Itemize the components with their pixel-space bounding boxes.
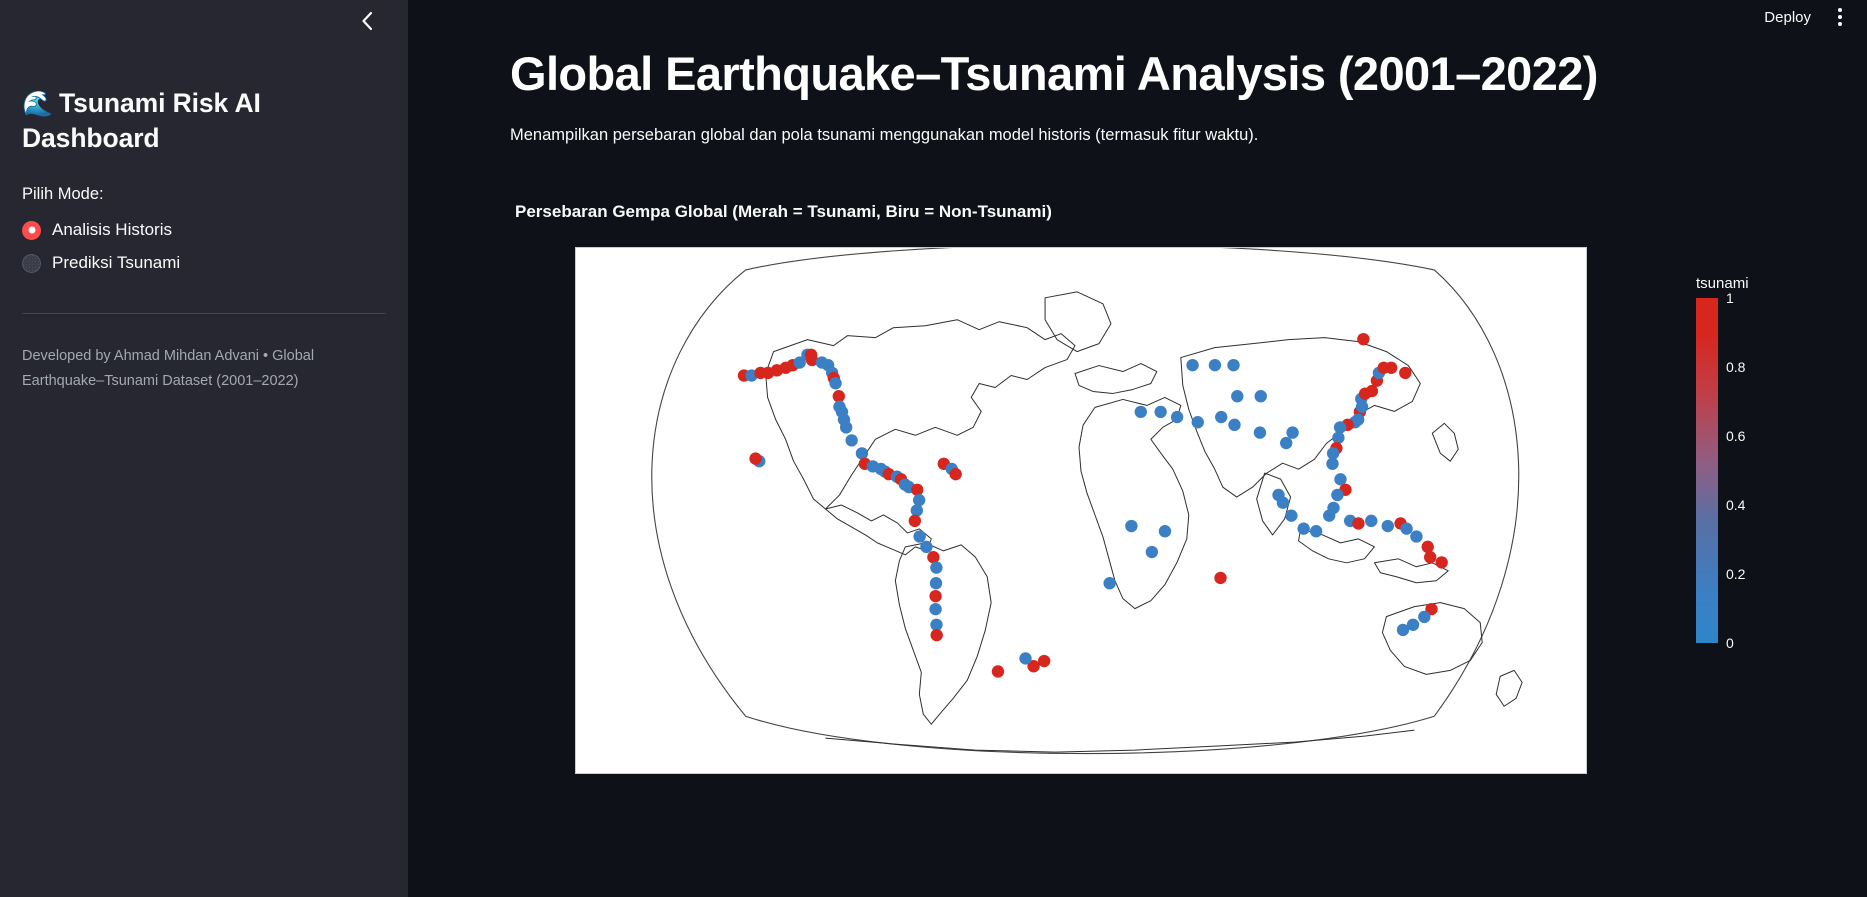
earthquake-point[interactable] bbox=[1255, 390, 1267, 402]
earthquake-point[interactable] bbox=[920, 540, 932, 552]
world-map-svg[interactable] bbox=[576, 248, 1586, 773]
colorbar-body: 1 0.8 0.6 0.4 0.2 0 bbox=[1690, 298, 1820, 643]
top-toolbar: Deploy bbox=[1754, 0, 1867, 34]
earthquake-point[interactable] bbox=[840, 421, 852, 433]
earthquake-point[interactable] bbox=[913, 530, 925, 542]
radio-option-analisis-historis[interactable]: Analisis Historis bbox=[22, 214, 386, 247]
earthquake-point[interactable] bbox=[1186, 359, 1198, 371]
page-subtitle: Menampilkan persebaran global dan pola t… bbox=[510, 126, 1867, 145]
earthquake-point[interactable] bbox=[1323, 509, 1335, 521]
earthquake-point[interactable] bbox=[1326, 457, 1338, 469]
earthquake-point[interactable] bbox=[1228, 418, 1240, 430]
colorbar-tick-0: 0 bbox=[1726, 635, 1734, 651]
earthquake-point[interactable] bbox=[1019, 652, 1031, 664]
app-brand-title: 🌊Tsunami Risk AI Dashboard bbox=[22, 86, 386, 155]
continent-outlines bbox=[766, 291, 1523, 751]
mode-select-label: Pilih Mode: bbox=[22, 185, 386, 204]
colorbar-legend: tsunami 1 0.8 0.6 0.4 0.2 0 bbox=[1690, 275, 1840, 643]
earthquake-point[interactable] bbox=[1365, 514, 1377, 526]
earthquake-point[interactable] bbox=[1154, 405, 1166, 417]
earthquake-point[interactable] bbox=[1171, 411, 1183, 423]
earthquake-point[interactable] bbox=[1135, 405, 1147, 417]
earthquake-point[interactable] bbox=[1285, 509, 1297, 521]
wave-emoji-icon: 🌊 bbox=[22, 90, 53, 118]
earthquake-point[interactable] bbox=[911, 483, 923, 495]
earthquake-point[interactable] bbox=[992, 665, 1004, 677]
colorbar-gradient bbox=[1696, 298, 1718, 643]
earthquake-point[interactable] bbox=[911, 504, 923, 516]
radio-option-prediksi-tsunami[interactable]: Prediksi Tsunami bbox=[22, 247, 386, 280]
colorbar-tick-0.4: 0.4 bbox=[1726, 497, 1745, 513]
radio-label-prediksi-tsunami: Prediksi Tsunami bbox=[52, 253, 180, 273]
earthquake-point[interactable] bbox=[1385, 361, 1397, 373]
radio-selected-icon[interactable] bbox=[22, 221, 41, 240]
earthquake-point[interactable] bbox=[1231, 390, 1243, 402]
colorbar-tick-0.6: 0.6 bbox=[1726, 428, 1745, 444]
earthquake-point[interactable] bbox=[1280, 437, 1292, 449]
sidebar-footer-credit: Developed by Ahmad Mihdan Advani • Globa… bbox=[22, 344, 322, 394]
earthquake-point[interactable] bbox=[1038, 654, 1050, 666]
radio-label-analisis-historis: Analisis Historis bbox=[52, 220, 172, 240]
brand-title-text: Tsunami Risk AI Dashboard bbox=[22, 88, 261, 153]
main-content: Deploy Global Earthquake–Tsunami Analysi… bbox=[408, 0, 1867, 897]
earthquake-point[interactable] bbox=[1192, 416, 1204, 428]
earthquake-point[interactable] bbox=[1125, 519, 1137, 531]
streamlit-app: 🌊Tsunami Risk AI Dashboard Pilih Mode: A… bbox=[0, 0, 1867, 897]
earthquake-point[interactable] bbox=[1382, 519, 1394, 531]
earthquake-point[interactable] bbox=[930, 577, 942, 589]
world-map-panel[interactable] bbox=[575, 247, 1587, 774]
earthquake-point[interactable] bbox=[845, 434, 857, 446]
earthquake-point[interactable] bbox=[1399, 366, 1411, 378]
mode-radio-group[interactable]: Analisis Historis Prediksi Tsunami bbox=[22, 214, 386, 280]
earthquake-point[interactable] bbox=[929, 590, 941, 602]
earthquake-point[interactable] bbox=[1254, 426, 1266, 438]
earthquake-point[interactable] bbox=[1310, 525, 1322, 537]
page-title: Global Earthquake–Tsunami Analysis (2001… bbox=[510, 48, 1867, 101]
earthquake-point[interactable] bbox=[1435, 556, 1447, 568]
earthquake-point[interactable] bbox=[856, 447, 868, 459]
earthquake-point[interactable] bbox=[1297, 522, 1309, 534]
earthquake-point[interactable] bbox=[1286, 426, 1298, 438]
sidebar-collapse-button[interactable] bbox=[352, 6, 382, 36]
earthquake-point[interactable] bbox=[1397, 623, 1409, 635]
earthquake-point[interactable] bbox=[1215, 411, 1227, 423]
page-body: Global Earthquake–Tsunami Analysis (2001… bbox=[408, 0, 1867, 222]
earthquake-point[interactable] bbox=[1357, 333, 1369, 345]
earthquake-point[interactable] bbox=[1332, 431, 1344, 443]
chart-heading: Persebaran Gempa Global (Merah = Tsunami… bbox=[515, 202, 1867, 222]
earthquake-point[interactable] bbox=[1227, 359, 1239, 371]
earthquake-point[interactable] bbox=[930, 629, 942, 641]
earthquake-point[interactable] bbox=[909, 514, 921, 526]
map-graticule-outline bbox=[652, 248, 1519, 754]
earthquake-point[interactable] bbox=[1209, 359, 1221, 371]
kebab-menu-icon[interactable] bbox=[1825, 2, 1855, 32]
earthquake-point[interactable] bbox=[1331, 488, 1343, 500]
earthquake-point[interactable] bbox=[1352, 517, 1364, 529]
sidebar: 🌊Tsunami Risk AI Dashboard Pilih Mode: A… bbox=[0, 0, 408, 897]
earthquake-point[interactable] bbox=[1418, 610, 1430, 622]
earthquake-point[interactable] bbox=[1159, 525, 1171, 537]
earthquake-point[interactable] bbox=[929, 603, 941, 615]
earthquake-point[interactable] bbox=[829, 377, 841, 389]
chevron-left-icon bbox=[360, 10, 375, 32]
earthquake-point[interactable] bbox=[1272, 488, 1284, 500]
colorbar-tick-0.8: 0.8 bbox=[1726, 359, 1745, 375]
earthquake-point[interactable] bbox=[1422, 540, 1434, 552]
colorbar-tick-1: 1 bbox=[1726, 290, 1734, 306]
earthquake-point[interactable] bbox=[1410, 530, 1422, 542]
colorbar-title: tsunami bbox=[1696, 275, 1840, 292]
deploy-button[interactable]: Deploy bbox=[1754, 5, 1821, 30]
earthquake-point[interactable] bbox=[1400, 522, 1412, 534]
earthquake-point[interactable] bbox=[749, 452, 761, 464]
earthquake-point[interactable] bbox=[913, 494, 925, 506]
earthquake-point[interactable] bbox=[927, 551, 939, 563]
earthquake-point[interactable] bbox=[930, 561, 942, 573]
earthquake-point[interactable] bbox=[949, 468, 961, 480]
sidebar-divider bbox=[22, 313, 386, 314]
earthquake-point-layer[interactable] bbox=[738, 333, 1448, 678]
earthquake-point[interactable] bbox=[1214, 571, 1226, 583]
earthquake-point[interactable] bbox=[1103, 577, 1115, 589]
colorbar-tick-0.2: 0.2 bbox=[1726, 566, 1745, 582]
earthquake-point[interactable] bbox=[1146, 545, 1158, 557]
earthquake-point[interactable] bbox=[1334, 421, 1346, 433]
earthquake-point[interactable] bbox=[1424, 551, 1436, 563]
radio-unselected-icon[interactable] bbox=[22, 254, 41, 273]
